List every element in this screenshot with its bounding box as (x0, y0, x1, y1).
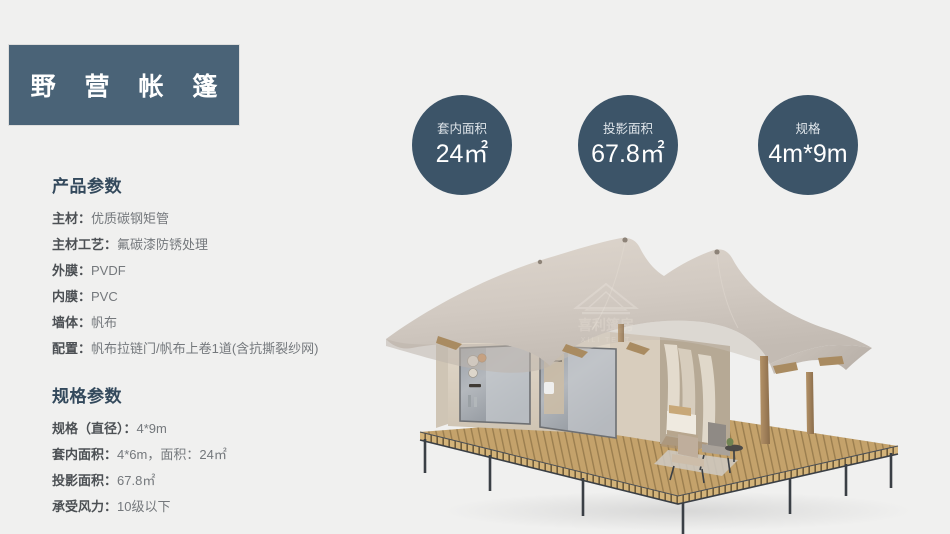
spec-key: 配置： (52, 341, 91, 356)
spec-row: 承受风力：10级以下 (52, 494, 227, 520)
spec-row: 套内面积：4*6m，面积：24㎡ (52, 442, 227, 468)
spec-key: 内膜： (52, 289, 91, 304)
slide-root: 野 营 帐 篷 产品参数 主材：优质碳钢矩管 主材工艺：氟碳漆防锈处理 外膜：P… (0, 0, 950, 534)
badge-value: 24㎡ (436, 142, 489, 167)
page-title: 野 营 帐 篷 (20, 67, 229, 103)
tent-render-image: 喜利篷房 XILI TENT (378, 196, 944, 534)
product-params-section: 产品参数 主材：优质碳钢矩管 主材工艺：氟碳漆防锈处理 外膜：PVDF 内膜：P… (52, 172, 319, 362)
badge-projected-area: 投影面积 67.8㎡ (578, 95, 678, 195)
badge-interior-area: 套内面积 24㎡ (412, 95, 512, 195)
spec-value: 4*6m，面积：24㎡ (117, 447, 227, 462)
spec-row: 内膜：PVC (52, 284, 319, 310)
spec-row: 主材工艺：氟碳漆防锈处理 (52, 232, 319, 258)
spec-row: 墙体：帆布 (52, 310, 319, 336)
badge-label: 规格 (795, 123, 820, 136)
spec-value: PVDF (91, 263, 126, 278)
spec-value: 优质碳钢矩管 (91, 211, 169, 226)
spec-key: 规格（直径）： (52, 421, 137, 436)
spec-value: 10级以下 (117, 499, 170, 514)
badge-specification: 规格 4m*9m (758, 95, 858, 195)
spec-row: 规格（直径）：4*9m (52, 416, 227, 442)
watermark-text: 喜利篷房 (578, 317, 634, 333)
badge-label: 投影面积 (603, 123, 653, 136)
spec-key: 承受风力： (52, 499, 117, 514)
spec-value: 4*9m (137, 421, 167, 436)
spec-value: 67.8㎡ (117, 473, 155, 488)
spec-key: 外膜： (52, 263, 91, 278)
spec-key: 墙体： (52, 315, 91, 330)
spec-row: 投影面积：67.8㎡ (52, 468, 227, 494)
spec-key: 主材工艺： (52, 237, 117, 252)
spec-value: 氟碳漆防锈处理 (117, 237, 208, 252)
badge-label: 套内面积 (437, 123, 487, 136)
spec-row: 主材：优质碳钢矩管 (52, 206, 319, 232)
product-params-heading: 产品参数 (52, 172, 319, 197)
title-banner: 野 营 帐 篷 (8, 44, 240, 126)
spec-value: 帆布 (91, 315, 117, 330)
spec-key: 主材： (52, 211, 91, 226)
badge-value: 4m*9m (768, 142, 847, 167)
spec-key: 套内面积： (52, 447, 117, 462)
spec-row: 外膜：PVDF (52, 258, 319, 284)
spec-value: PVC (91, 289, 118, 304)
spec-value: 帆布拉链门/帆布上卷1道(含抗撕裂纱网) (91, 341, 319, 356)
spec-row: 配置：帆布拉链门/帆布上卷1道(含抗撕裂纱网) (52, 336, 319, 362)
badge-value: 67.8㎡ (591, 142, 665, 167)
spec-key: 投影面积： (52, 473, 117, 488)
size-params-section: 规格参数 规格（直径）：4*9m 套内面积：4*6m，面积：24㎡ 投影面积：6… (52, 382, 227, 520)
size-params-heading: 规格参数 (52, 382, 227, 407)
